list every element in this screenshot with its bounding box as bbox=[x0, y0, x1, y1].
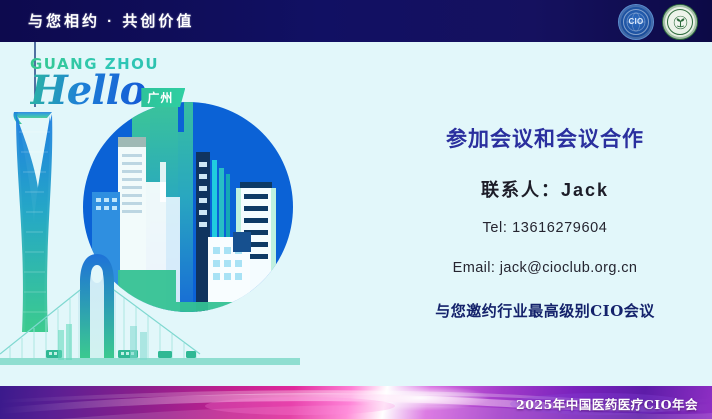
hello-guangzhou-logo: GUANG ZHOU Hello 广州 bbox=[30, 55, 185, 111]
tagline: 与您邀约行业最高级别CIO会议 bbox=[400, 300, 690, 321]
contact-panel: 参加会议和会议合作 联系人：Jack Tel: 13616279604 Emai… bbox=[360, 42, 712, 387]
hello-row: Hello 广州 bbox=[30, 71, 185, 111]
footer-band: 2025年中国医药医疗CIO年会 bbox=[0, 386, 712, 419]
footer-event-title: 2025年中国医药医疗CIO年会 bbox=[516, 394, 698, 413]
cio-logo-label: CIO bbox=[628, 18, 643, 26]
header-bar: 与您相约 · 共创价值 CIO bbox=[0, 0, 712, 42]
pharma-association-logo[interactable] bbox=[662, 4, 698, 40]
contact-person: 联系人：Jack bbox=[410, 176, 680, 202]
contact-email[interactable]: Email: jack@cioclub.org.cn bbox=[400, 260, 690, 276]
city-ribbon: 广州 bbox=[141, 88, 185, 107]
hello-wordmark: Hello bbox=[30, 71, 145, 111]
contact-tel[interactable]: Tel: 13616279604 bbox=[410, 220, 680, 236]
header-logos: CIO bbox=[618, 4, 698, 40]
plant-medical-icon bbox=[673, 15, 688, 30]
conference-contact-poster: 与您相约 · 共创价值 CIO bbox=[0, 0, 712, 419]
cio-club-logo[interactable]: CIO bbox=[618, 4, 654, 40]
header-title: 与您相约 · 共创价值 bbox=[28, 10, 194, 31]
page-title: 参加会议和会议合作 bbox=[410, 123, 680, 153]
